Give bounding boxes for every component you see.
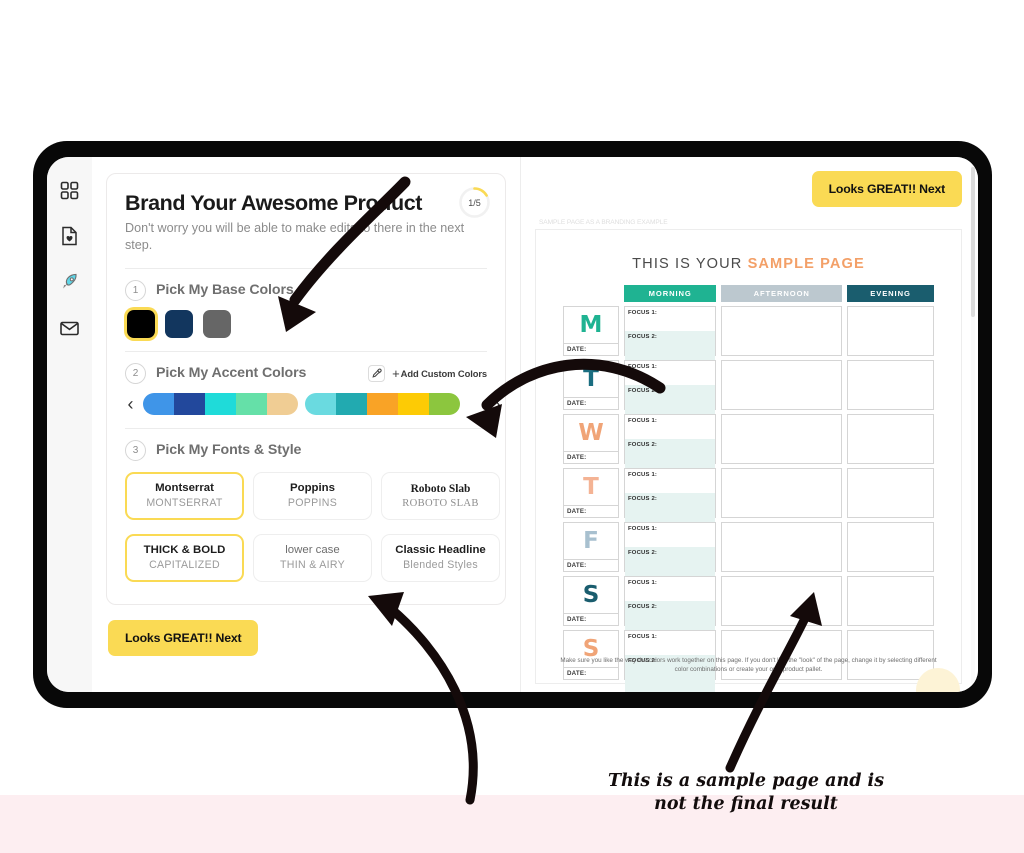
weekly-planner-table: MORNING AFTERNOON EVENING M DATE: [558, 281, 939, 684]
app-sidebar-rail [47, 157, 92, 692]
sample-page-sheet: THIS IS YOUR SAMPLE PAGE MORNING AFTERNO… [535, 229, 962, 684]
grid-apps-icon[interactable] [59, 179, 81, 201]
day-date-label: DATE: [564, 559, 618, 571]
document-heart-icon[interactable] [59, 225, 81, 247]
palette-prev-button[interactable]: ‹ [125, 395, 136, 413]
font-card-title: Montserrat [155, 482, 214, 494]
style-card-sample: Blended Styles [403, 559, 478, 571]
page-subtitle: Don't worry you will be able to make edi… [125, 220, 487, 255]
palette-option-1[interactable] [143, 393, 298, 415]
day-date-label: DATE: [564, 505, 618, 517]
focus-1-label: FOCUS 1: [625, 577, 715, 601]
handwritten-note: This is a sample page and is not the fin… [586, 770, 906, 816]
palette-swatch [336, 393, 367, 415]
palette-next-button[interactable]: › [492, 395, 503, 413]
palette-swatch [429, 393, 460, 415]
slot-evening [847, 576, 934, 626]
style-card-sample: CAPITALIZED [149, 559, 220, 571]
slot-evening [847, 414, 934, 464]
table-row: M DATE: FOCUS 1: FOCUS 2: [563, 306, 934, 356]
focus-1-label: FOCUS 1: [625, 307, 715, 331]
slot-afternoon [721, 414, 842, 464]
top-next-wrap: Looks GREAT!! Next [535, 171, 962, 207]
style-card-sample: THIN & AIRY [280, 559, 345, 571]
slot-afternoon [721, 522, 842, 572]
progress-ring: 1/5 [458, 186, 491, 219]
section-title-fonts-style: Pick My Fonts & Style [156, 442, 301, 458]
sample-page-caption: SAMPLE PAGE AS A BRANDING EXAMPLE [539, 219, 962, 226]
day-date-label: DATE: [564, 397, 618, 409]
planner-col-morning: MORNING [624, 285, 716, 302]
palette-swatch [398, 393, 429, 415]
style-card-lower-case[interactable]: lower case THIN & AIRY [253, 534, 372, 582]
palette-swatch [236, 393, 267, 415]
base-swatch-1[interactable] [127, 310, 155, 338]
section-header: 1 Pick My Base Colors [125, 280, 487, 301]
font-card-poppins[interactable]: Poppins POPPINS [253, 472, 372, 520]
font-card-sample: POPPINS [288, 497, 337, 509]
progress-label: 1/5 [458, 186, 491, 219]
handwritten-note-line2: not the final result [586, 793, 906, 816]
day-letter: T [564, 469, 618, 505]
sample-sheet-footer-note: Make sure you like the way the colors wo… [558, 656, 939, 676]
planner-header-row: MORNING AFTERNOON EVENING [563, 285, 934, 302]
font-card-montserrat[interactable]: Montserrat MONTSERRAT [125, 472, 244, 520]
section-fonts-style: 3 Pick My Fonts & Style Montserrat MONTS… [125, 429, 487, 594]
style-card-thick-bold[interactable]: THICK & BOLD CAPITALIZED [125, 534, 244, 582]
base-color-swatches [127, 310, 487, 338]
palette-option-3-partial[interactable] [467, 393, 485, 415]
planner-col-afternoon: AFTERNOON [721, 285, 842, 302]
sample-sheet-title: THIS IS YOUR SAMPLE PAGE [558, 256, 939, 272]
day-letter: W [564, 415, 618, 451]
day-letter: M [564, 307, 618, 343]
focus-1-label: FOCUS 1: [625, 415, 715, 439]
add-custom-colors-label: Add Custom Colors [401, 368, 487, 379]
rocket-icon[interactable] [59, 271, 81, 293]
bottom-next-button[interactable]: Looks GREAT!! Next [108, 620, 258, 656]
font-card-sample: MONTSERRAT [146, 497, 222, 509]
top-next-button[interactable]: Looks GREAT!! Next [812, 171, 962, 207]
table-row: S DATE: FOCUS 1: FOCUS 2: [563, 576, 934, 626]
style-card-title: THICK & BOLD [144, 544, 226, 556]
palette-option-2[interactable] [305, 393, 460, 415]
table-row: T DATE: FOCUS 1: FOCUS 2: [563, 468, 934, 518]
section-title-base-colors: Pick My Base Colors [156, 282, 294, 298]
table-row: W DATE: FOCUS 1: FOCUS 2: [563, 414, 934, 464]
planner-day-col-header [563, 285, 619, 302]
palette-swatch [143, 393, 174, 415]
slot-afternoon [721, 360, 842, 410]
palette-swatch [205, 393, 236, 415]
font-card-roboto-slab[interactable]: Roboto Slab ROBOTO SLAB [381, 472, 500, 520]
planner-col-evening: EVENING [847, 285, 934, 302]
page-title: Brand Your Awesome Product [125, 191, 487, 215]
slot-afternoon [721, 468, 842, 518]
style-card-title: Classic Headline [395, 544, 486, 556]
font-card-grid: Montserrat MONTSERRAT Poppins POPPINS Ro… [125, 472, 487, 520]
font-card-title: Poppins [290, 482, 335, 494]
branding-config-panel: 1/5 Brand Your Awesome Product Don't wor… [92, 157, 520, 692]
slot-morning: FOCUS 1: FOCUS 2: [624, 522, 716, 572]
slot-evening [847, 360, 934, 410]
day-cell: F DATE: [563, 522, 619, 572]
focus-1-label: FOCUS 1: [625, 523, 715, 547]
step-badge-3: 3 [125, 440, 146, 461]
sheet-title-highlight: SAMPLE PAGE [748, 256, 865, 272]
palette-swatch [267, 393, 298, 415]
day-date-label: DATE: [564, 451, 618, 463]
focus-1-label: FOCUS 1: [625, 469, 715, 493]
day-date-label: DATE: [564, 343, 618, 355]
step-badge-1: 1 [125, 280, 146, 301]
handwritten-note-line1: This is a sample page and is [586, 770, 906, 793]
slot-afternoon [721, 306, 842, 356]
day-cell: S DATE: [563, 576, 619, 626]
eyedropper-icon[interactable] [368, 365, 385, 382]
palette-swatch [367, 393, 398, 415]
step-badge-2: 2 [125, 363, 146, 384]
day-cell: W DATE: [563, 414, 619, 464]
focus-1-label: FOCUS 1: [625, 361, 715, 385]
slot-evening [847, 306, 934, 356]
palette-swatch [174, 393, 205, 415]
slot-morning: FOCUS 1: FOCUS 2: [624, 576, 716, 626]
planner-body: M DATE: FOCUS 1: FOCUS 2: [563, 306, 934, 680]
slot-morning: FOCUS 1: FOCUS 2: [624, 414, 716, 464]
config-card: 1/5 Brand Your Awesome Product Don't wor… [106, 173, 506, 605]
slot-evening [847, 522, 934, 572]
style-card-classic-headline[interactable]: Classic Headline Blended Styles [381, 534, 500, 582]
palette-swatch [305, 393, 336, 415]
tablet-screen: 1/5 Brand Your Awesome Product Don't wor… [47, 157, 978, 692]
planner-head: MORNING AFTERNOON EVENING [563, 285, 934, 302]
day-date-label: DATE: [564, 613, 618, 625]
style-card-grid: THICK & BOLD CAPITALIZED lower case THIN… [125, 534, 487, 582]
day-letter: S [564, 577, 618, 613]
plus-icon: + [392, 367, 400, 380]
sheet-title-plain: THIS IS YOUR [632, 256, 747, 272]
day-letter: F [564, 523, 618, 559]
day-cell: T DATE: [563, 468, 619, 518]
add-custom-colors-button[interactable]: +Add Custom Colors [392, 367, 487, 380]
font-card-sample: ROBOTO SLAB [402, 498, 478, 509]
slot-morning: FOCUS 1: FOCUS 2: [624, 468, 716, 518]
base-swatch-2[interactable] [165, 310, 193, 338]
section-title-accent-colors: Pick My Accent Colors [156, 365, 306, 381]
focus-1-label: FOCUS 1: [625, 631, 715, 655]
palette-carousel: ‹ [125, 393, 487, 415]
section-header: 2 Pick My Accent Colors +Add Custom Colo… [125, 363, 487, 384]
table-row: F DATE: FOCUS 1: FOCUS 2: [563, 522, 934, 572]
table-row: T DATE: FOCUS 1: FOCUS 2: [563, 360, 934, 410]
day-cell: T DATE: [563, 360, 619, 410]
sample-preview-panel: Looks GREAT!! Next SAMPLE PAGE AS A BRAN… [520, 157, 978, 692]
day-letter: T [564, 361, 618, 397]
style-card-title: lower case [285, 544, 339, 556]
section-accent-colors: 2 Pick My Accent Colors +Add Custom Colo… [125, 352, 487, 415]
slot-evening [847, 468, 934, 518]
section-header: 3 Pick My Fonts & Style [125, 440, 487, 461]
section-base-colors: 1 Pick My Base Colors [125, 269, 487, 338]
slot-morning: FOCUS 1: FOCUS 2: [624, 306, 716, 356]
tablet-device-frame: 1/5 Brand Your Awesome Product Don't wor… [33, 141, 992, 708]
day-cell: M DATE: [563, 306, 619, 356]
preview-scrollbar-thumb[interactable] [971, 167, 975, 317]
envelope-icon[interactable] [59, 317, 81, 339]
base-swatch-3[interactable] [203, 310, 231, 338]
accent-actions: +Add Custom Colors [368, 365, 487, 382]
font-card-title: Roboto Slab [411, 483, 471, 495]
slot-morning: FOCUS 1: FOCUS 2: [624, 360, 716, 410]
slot-afternoon [721, 576, 842, 626]
